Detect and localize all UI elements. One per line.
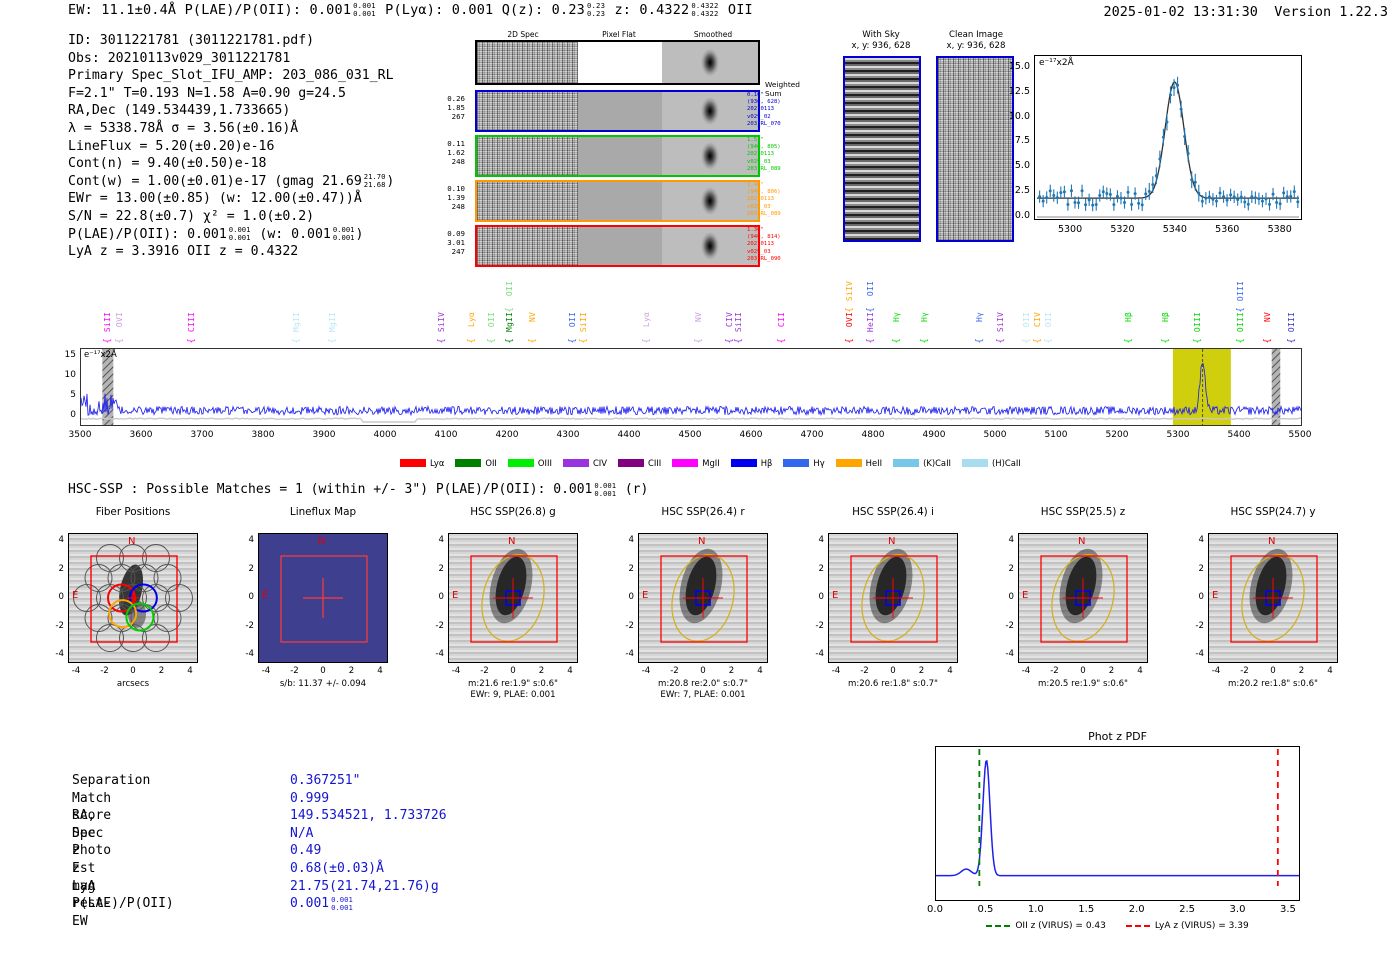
param-radec: RA,Dec (149.534439,1.733665) [68,102,394,120]
phot-z-svg [936,747,1299,900]
header-timestamp-version: 2025-01-02 13:31:30 Version 1.22.3 [1104,4,1389,20]
param-id: ID: 3011221781 (3011221781.pdf) [68,32,394,50]
spec2d-cell-smoothed [662,137,758,175]
cutout-y-tick: 4 [614,535,634,545]
legend-swatch [508,459,534,467]
cutout-x-tick: 4 [746,666,774,676]
cutout-y-tick: -2 [1184,621,1204,631]
cutout-x-tick: 2 [338,666,366,676]
cutout-y-tick: 4 [1184,535,1204,545]
cutout-panel-title: HSC SSP(26.4) i [808,506,978,518]
spec2d-cell-2dspec [477,182,578,220]
emission-line-label: Hγ [920,312,929,322]
meta-value: 0.16" [747,92,797,99]
emission-line-bracket: { [505,307,515,313]
emission-line-label: SiIV [437,312,446,332]
cutout-x-tick: 0 [1259,666,1287,676]
emission-line-label: OII [1022,312,1031,327]
emission-line-label: OIII [1236,312,1245,332]
emission-line-bracket: { [1124,338,1134,344]
cutout-y-tick: 2 [804,564,824,574]
spec2d-row-cells [477,137,758,175]
emission-line-label: CIII [187,312,196,332]
compass-north-label: N [1268,536,1275,547]
meta-value: 203_RL_089 [747,166,797,173]
emission-line-bracket: { [292,338,302,344]
emission-line-label: OII [568,312,577,327]
emission-line-label: NV [528,312,537,322]
plae-errors: 0.0010.001 [229,226,251,241]
emission-line-bracket: { [1161,338,1171,344]
meta-value: v029_03 [747,249,797,256]
cutout-y-tick: 4 [804,535,824,545]
spec2d-row-left-stats: 0.261.85267 [439,94,465,121]
cutout-x-tick: 2 [908,666,936,676]
cutout-x-tick: -2 [471,666,499,676]
spectrum-x-tick: 4400 [609,430,649,440]
spec2d-row-cells [477,227,758,265]
spec2d-cell-smoothed [662,182,758,220]
plae-w-errors: 0.0010.001 [333,226,355,241]
meta-value: (940, 806) [747,189,797,196]
spectrum-legend-item: CIII [618,458,661,468]
y-tick-label: 0.0 [996,210,1030,221]
emission-line-bracket: { [528,338,538,344]
spectrum-x-tick: 3500 [60,430,100,440]
cutout-y-tick: 4 [994,535,1014,545]
cutout-panel-title: Lineflux Map [238,506,408,518]
cutout-y-tick: 0 [1184,592,1204,602]
cutout-panel-title: HSC SSP(26.4) r [618,506,788,518]
cutout-x-tick: 0 [689,666,717,676]
emission-line-label: CII [777,312,786,327]
line-fit-plot: e⁻¹⁷x2Å [1034,55,1302,220]
cutout-image-3[interactable] [448,533,578,663]
y-tick-label: 7.5 [996,135,1030,146]
emission-line-bracket: { [694,338,704,344]
cutout-x-tick: -4 [1202,666,1230,676]
param-cont-n: Cont(n) = 9.40(±0.50)e-18 [68,155,394,173]
spectrum-legend-item: MgII [672,458,719,468]
match-table-value: 0.49 [290,842,321,860]
compass-north-label: N [508,536,515,547]
cutout-y-tick: 2 [424,564,444,574]
emission-line-label: OVI [115,312,124,327]
spec2d-fiber-row [475,180,760,222]
emission-line-bracket: { [1287,338,1297,344]
compass-north-label: N [888,536,895,547]
emission-line-label: OII [866,281,875,296]
meta-value: (940, 805) [747,144,797,151]
header-z-class: OII [728,2,753,18]
legend-label: OII z (VIRUS) = 0.43 [1015,921,1106,931]
legend-swatch [563,459,589,467]
source-parameter-block: ID: 3011221781 (3011221781.pdf) Obs: 202… [68,32,394,261]
emission-line-label: SiII [103,312,112,332]
header-z: z: 0.4322 [614,2,689,18]
meta-value: v029_02 [747,114,797,121]
spec2d-cell-pixelflat [578,137,662,175]
cutout-image-5[interactable] [828,533,958,663]
phot-z-legend: OII z (VIRUS) = 0.43LyA z (VIRUS) = 3.39 [935,912,1300,931]
stat-value: 1.62 [439,148,465,157]
emission-line-label: MgII [328,312,337,332]
emission-line-label: Lyα [642,312,651,327]
emission-line-bracket: { [642,338,652,344]
compass-east-label: E [832,590,838,601]
param-sn-chi2: S/N = 22.8(±0.7) χ² = 1.0(±0.2) [68,208,394,226]
legend-swatch [962,459,988,467]
spec2d-row-cells [477,92,758,130]
spectrum-legend-item: HeII [836,458,882,468]
param-redshifts: LyA z = 3.3916 OII z = 0.4322 [68,243,394,261]
cutout-x-tick: -2 [1041,666,1069,676]
cutout-y-tick: 0 [44,592,64,602]
legend-label: Lyα [430,458,444,468]
spectrum-x-tick: 5100 [1036,430,1076,440]
legend-label: CIII [648,458,661,468]
with-sky-image [843,56,921,242]
cutout-y-tick: -4 [44,649,64,659]
header-plae-errors: 0.0010.001 [353,2,376,17]
y-tick-label: 10.0 [996,111,1030,122]
spec2d-row-right-meta: 1.36"(940, 814)20210113v029_03203_RL_090 [747,227,797,263]
emission-line-bracket: { [1022,338,1032,344]
cutout-panel-title: Fiber Positions [48,506,218,518]
meta-value: 1.36" [747,227,797,234]
cutout-y-tick: 0 [234,592,254,602]
spec2d-cell-pixelflat [578,92,662,130]
legend-dashed-swatch [1126,925,1150,927]
spec2d-fiber-row [475,135,760,177]
y-tick-label: 2.5 [996,185,1030,196]
hsc-ssp-header: HSC-SSP : Possible Matches = 1 (within +… [68,482,648,497]
hsc-plae-errors: 0.0010.001 [594,482,616,497]
cutout-y-tick: 2 [44,564,64,574]
cutout-caption-primary: m:20.5 re:1.9" s:0.6" [992,679,1174,690]
spectrum-x-tick: 4100 [426,430,466,440]
header-z-errors: 0.43220.4322 [691,2,718,17]
x-tick-label: 5380 [1262,224,1298,235]
legend-swatch [731,459,757,467]
cutout-x-tick: 0 [499,666,527,676]
emission-line-bracket: { [1236,338,1246,344]
spec2d-cell-pixelflat [578,42,662,83]
match-table-value: 21.75(21.74,21.76)g [290,878,439,896]
compass-east-label: E [642,590,648,601]
emission-line-bracket: { [1044,338,1054,344]
param-seeing: F=2.1" T=0.193 N=1.58 A=0.90 g=24.5 [68,85,394,103]
x-tick-label: 5320 [1104,224,1140,235]
cutout-image-6[interactable] [1018,533,1148,663]
stat-value: 1.85 [439,103,465,112]
meta-value: 20210113 [747,106,797,113]
emission-line-bracket: { [975,338,985,344]
cutout-panel-title: HSC SSP(25.5) z [998,506,1168,518]
match-table-key: P(LAE)/P(OII) [72,895,174,913]
emission-line-bracket: { [103,338,113,344]
spec2d-row-left-stats: 0.111.62248 [439,139,465,166]
legend-label: Hβ [761,458,773,468]
cutout-x-tick: -2 [281,666,309,676]
spectrum-legend-item: (K)CaII [893,458,951,468]
compass-east-label: E [262,590,268,601]
emission-line-bracket: { [568,338,578,344]
spectrum-legend-item: CIV [563,458,607,468]
cutout-x-tick: -2 [851,666,879,676]
spectrum-x-tick: 4200 [487,430,527,440]
cutout-x-tick: 4 [1126,666,1154,676]
meta-value: 20210113 [747,151,797,158]
compass-east-label: E [1022,590,1028,601]
cutout-caption-primary: arcsecs [42,679,224,690]
emission-line-label: OIII [1287,312,1296,332]
cutout-x-tick: 4 [556,666,584,676]
emission-line-label: Hγ [975,312,984,322]
emission-line-bracket: { [328,338,338,344]
spec2d-row-right-meta: 0.16"(936, 628)20210113v029_02203_RL_070 [747,92,797,128]
spec2d-row-right-meta: 1.40"(940, 806)20210113v029_03203_RL_089 [747,182,797,218]
spectrum-x-tick: 4300 [548,430,588,440]
stat-value: 0.26 [439,94,465,103]
spec2d-row-left-stats: 0.101.39248 [439,184,465,211]
emission-line-label: CIV [725,312,734,327]
stat-value: 0.09 [439,229,465,238]
cutout-y-tick: 0 [994,592,1014,602]
legend-swatch [455,459,481,467]
spectrum-x-tick: 3700 [182,430,222,440]
cutout-image-2[interactable] [258,533,388,663]
spec2d-cell-smoothed [662,42,758,83]
match-table-value: N/A [290,825,313,843]
gmag-errors: 21.7021.68 [364,173,386,188]
spectrum-x-tick: 4500 [670,430,710,440]
full-spectrum-plot: e⁻¹⁷x2Å [80,348,1302,426]
meta-value: (936, 628) [747,99,797,106]
emission-line-bracket: { [1193,338,1203,344]
emission-line-label: SiIV [996,312,1005,332]
emission-line-label: MgII [292,312,301,332]
phot-z-pdf-title: Phot z PDF [935,730,1300,743]
cutout-y-tick: -4 [424,649,444,659]
param-obs: Obs: 20210113v029_3011221781 [68,50,394,68]
param-primary-spec: Primary Spec_Slot_IFU_AMP: 203_086_031_R… [68,67,394,85]
cutout-y-tick: 4 [234,535,254,545]
spectrum-legend: LyαOIIOIIICIVCIIIMgIIHβHγHeII(K)CaII(H)C… [400,452,1032,471]
param-ewr: EWr = 13.00(±0.85) (w: 12.00(±0.47))Å [68,190,394,208]
emission-line-bracket: { [115,338,125,344]
cutout-panel-title: HSC SSP(24.7) y [1188,506,1358,518]
spectrum-legend-item: Lyα [400,458,444,468]
spec2d-col-title-2dspec: 2D Spec [477,30,569,39]
legend-label: CIV [593,458,607,468]
emission-line-label: HeII [866,312,875,332]
meta-value: 20210113 [747,241,797,248]
cutout-y-tick: 0 [424,592,444,602]
x-tick-label: 5300 [1052,224,1088,235]
cutout-x-tick: -4 [632,666,660,676]
emission-line-bracket: { [866,307,876,313]
emission-line-bracket: { [579,338,589,344]
cutout-x-tick: 0 [309,666,337,676]
cutout-y-tick: 0 [804,592,824,602]
match-table-value: 0.367251" [290,772,360,790]
meta-value: 203_RL_090 [747,256,797,263]
spec2d-cell-2dspec [477,42,578,83]
param-lambda-sigma: λ = 5338.78Å σ = 3.56(±0.16)Å [68,120,394,138]
cutout-image-7[interactable] [1208,533,1338,663]
stat-value: 248 [439,202,465,211]
spec2d-col-title-smoothed: Smoothed [667,30,759,39]
cutout-x-tick: -4 [442,666,470,676]
cutout-x-tick: 2 [1098,666,1126,676]
legend-label: OII [485,458,497,468]
emission-line-bracket: { [505,338,515,344]
spectrum-x-tick: 4600 [731,430,771,440]
stat-value: 267 [439,112,465,121]
emission-line-label: SiII [734,312,743,332]
compass-east-label: E [452,590,458,601]
spectrum-x-tick: 3900 [304,430,344,440]
match-table-value: 0.999 [290,790,329,808]
meta-value: 1.51" [747,137,797,144]
emission-line-bracket: { [1033,338,1043,344]
cutout-y-tick: -2 [994,621,1014,631]
cutout-x-tick: -4 [822,666,850,676]
match-table-value: 0.68(±0.03)Å [290,860,384,878]
stat-value: 0.10 [439,184,465,193]
spectrum-x-tick: 4700 [792,430,832,440]
compass-east-label: E [1212,590,1218,601]
cutout-y-tick: -4 [804,649,824,659]
cutout-x-tick: 4 [936,666,964,676]
legend-swatch [893,459,919,467]
spectrum-y-tick: 10 [52,370,76,380]
legend-swatch [783,459,809,467]
emission-line-label: Lyα [467,312,476,327]
cutout-caption-primary: s/b: 11.37 +/- 0.094 [232,679,414,690]
spectrum-legend-item: OII [455,458,497,468]
spec2d-col-title-pixelflat: Pixel Flat [573,30,665,39]
spec2d-cell-2dspec [477,227,578,265]
header-ew-plae: EW: 11.1±0.4Å P(LAE)/P(OII): 0.001 [68,2,351,18]
spectrum-legend-item: Hγ [783,458,824,468]
meta-value: 20210113 [747,196,797,203]
cutout-y-tick: -4 [1184,649,1204,659]
cutout-x-tick: 2 [528,666,556,676]
cutout-image-4[interactable] [638,533,768,663]
with-sky-coords: x, y: 936, 628 [852,41,911,51]
spec2d-row-cells [477,182,758,220]
stat-value: 3.01 [439,238,465,247]
param-plae: P(LAE)/P(OII): 0.0010.0010.001 (w: 0.001… [68,226,394,244]
match-table-value: 149.534521, 1.733726 [290,807,447,825]
emission-line-bracket: { [996,338,1006,344]
cutout-x-tick: 0 [879,666,907,676]
header-summary-line: EW: 11.1±0.4Å P(LAE)/P(OII): 0.0010.0010… [68,2,753,18]
phot-z-legend-item: LyA z (VIRUS) = 3.39 [1126,921,1249,931]
timestamp: 2025-01-02 13:31:30 [1104,4,1258,20]
version-label: Version 1.22.3 [1274,4,1388,20]
spec2d-row-right-meta: 1.51"(940, 805)20210113v029_03203_RL_089 [747,137,797,173]
spectrum-x-tick: 4800 [853,430,893,440]
legend-label: (K)CaII [923,458,951,468]
spectrum-x-tick: 4000 [365,430,405,440]
match-table-value: 0.0010.0010.001 [290,895,354,913]
x-tick-label: 5360 [1209,224,1245,235]
cutout-y-tick: -2 [44,621,64,631]
cutout-y-tick: -4 [234,649,254,659]
param-lineflux: LineFlux = 5.20(±0.20)e-16 [68,138,394,156]
header-qz: Q(z): 0.23 [502,2,585,18]
cutout-x-tick: -2 [91,666,119,676]
spec2d-cell-2dspec [477,137,578,175]
cutout-image-1[interactable] [68,533,198,663]
cutout-x-tick: -2 [1231,666,1259,676]
spectrum-x-tick: 3800 [243,430,283,440]
emission-line-bracket: { [866,338,876,344]
emission-line-label: OIII [1193,312,1202,332]
phot-z-legend-item: OII z (VIRUS) = 0.43 [986,921,1106,931]
cutout-y-tick: -4 [614,649,634,659]
spectrum-x-tick: 4900 [914,430,954,440]
legend-label: OIII [538,458,552,468]
emission-line-label: OII [1044,312,1053,327]
cutout-x-tick: 2 [148,666,176,676]
emission-line-bracket: { [467,338,477,344]
spec2d-cell-pixelflat [578,182,662,220]
match-table-key: Separation [72,772,150,790]
stat-value: 0.11 [439,139,465,148]
y-tick-label: 5.0 [996,160,1030,171]
meta-value: (940, 814) [747,234,797,241]
emission-line-bracket: { [920,338,930,344]
clean-image-coords: x, y: 936, 628 [947,41,1006,51]
emission-line-bracket: { [437,338,447,344]
cutout-y-tick: 2 [1184,564,1204,574]
stat-value: 247 [439,247,465,256]
spectrum-x-tick: 5500 [1280,430,1320,440]
legend-label: (H)CaII [992,458,1021,468]
cutout-y-tick: -2 [614,621,634,631]
legend-swatch [400,459,426,467]
legend-swatch [618,459,644,467]
emission-line-bracket: { [487,338,497,344]
legend-label: LyA z (VIRUS) = 3.39 [1155,921,1249,931]
legend-label: MgII [702,458,719,468]
compass-north-label: N [318,536,325,547]
emission-line-bracket: { [845,307,855,313]
meta-value: v029_03 [747,159,797,166]
emission-line-bracket: { [1263,338,1273,344]
x-tick-label: 5340 [1157,224,1193,235]
cutout-panel-title: HSC SSP(26.8) g [428,506,598,518]
param-cont-w: Cont(w) = 1.00(±0.01)e-17 (gmag 21.6921.… [68,173,394,191]
cutout-x-tick: -4 [62,666,90,676]
spectrum-svg [81,349,1301,425]
spectrum-y-tick: 15 [52,350,76,360]
emission-line-label: Hβ [1124,312,1133,322]
cutout-x-tick: 0 [119,666,147,676]
spectrum-y-tick: 0 [52,410,76,420]
emission-line-bracket: { [845,338,855,344]
spec2d-cell-pixelflat [578,227,662,265]
compass-north-label: N [698,536,705,547]
spectrum-legend-item: Hβ [731,458,773,468]
cutout-x-tick: 4 [176,666,204,676]
cutout-caption-secondary: EWr: 9, PLAE: 0.001 [422,690,604,701]
emission-line-bracket: { [777,338,787,344]
